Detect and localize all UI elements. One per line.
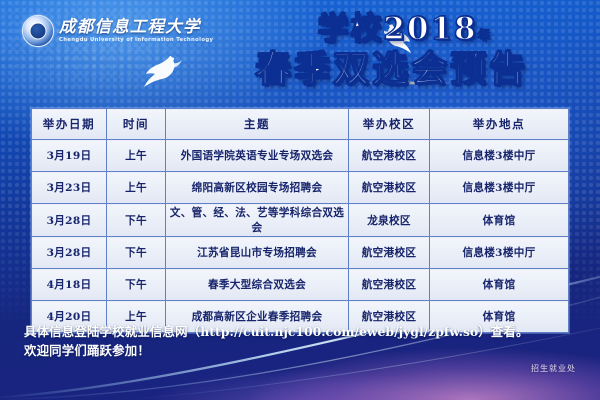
footer-prefix: 具体信息登陆学校就业信息网（: [24, 324, 200, 339]
university-name-block: 成都信息工程大学 Chengdu University of Informati…: [59, 18, 213, 44]
column-header-campus: 举办校区: [349, 109, 430, 140]
table-row: 3月28日 下午 文、管、经、法、艺等学科综合双选会 龙泉校区 体育馆: [32, 204, 569, 237]
cell-place: 信息楼3楼中厅: [430, 237, 569, 269]
title-year-suffix: 年: [478, 28, 490, 42]
cell-date: 3月28日: [32, 204, 107, 237]
schedule-table: 举办日期 时间 主题 举办校区 举办地点 3月19日 上午 外国语学院英语专业专…: [31, 108, 569, 333]
cell-time: 上午: [107, 140, 166, 172]
cell-date: 4月18日: [32, 269, 107, 301]
footer-suffix: ）查看。: [478, 324, 528, 339]
cell-time: 下午: [107, 269, 166, 301]
cell-date: 3月28日: [32, 237, 107, 269]
cell-topic: 绵阳高新区校园专场招聘会: [166, 172, 349, 204]
cell-date: 3月23日: [32, 172, 107, 204]
footer-line-2: 欢迎同学们踊跃参加！: [24, 341, 584, 360]
cell-topic: 文、管、经、法、艺等学科综合双选会: [166, 204, 349, 237]
cell-place: 体育馆: [430, 204, 569, 237]
employment-site-url[interactable]: http://cuit.njc100.com/eweb/jygl/zpfw.so: [200, 324, 478, 339]
table-header-row: 举办日期 时间 主题 举办校区 举办地点: [32, 109, 569, 140]
table-row: 4月18日 下午 春季大型综合双选会 航空港校区 体育馆: [32, 269, 569, 301]
cell-campus: 航空港校区: [349, 237, 430, 269]
column-header-time: 时间: [107, 109, 166, 140]
poster-canvas: 成都信息工程大学 Chengdu University of Informati…: [0, 0, 600, 400]
cell-topic: 春季大型综合双选会: [166, 269, 349, 301]
cell-topic: 江苏省昆山市专场招聘会: [166, 237, 349, 269]
cell-campus: 航空港校区: [349, 140, 430, 172]
title-line-2: 春季双选会预告: [199, 51, 584, 87]
cell-campus: 龙泉校区: [349, 204, 430, 237]
university-logo: 成都信息工程大学 Chengdu University of Informati…: [23, 16, 213, 46]
column-header-place: 举办地点: [430, 109, 569, 140]
title-line-1: 学校2018年: [211, 14, 596, 45]
cell-time: 上午: [107, 172, 166, 204]
university-emblem-icon: [23, 16, 53, 46]
cell-campus: 航空港校区: [349, 269, 430, 301]
cell-place: 信息楼3楼中厅: [430, 172, 569, 204]
poster-title: 学校2018年 春季双选会预告: [205, 14, 590, 87]
cell-place: 信息楼3楼中厅: [430, 140, 569, 172]
cell-topic: 外国语学院英语专业专场双选会: [166, 140, 349, 172]
table-row: 3月23日 上午 绵阳高新区校园专场招聘会 航空港校区 信息楼3楼中厅: [32, 172, 569, 204]
cell-time: 下午: [107, 204, 166, 237]
footer-line-1: 具体信息登陆学校就业信息网（http://cuit.njc100.com/ewe…: [24, 322, 584, 341]
cell-place: 体育馆: [430, 269, 569, 301]
cell-date: 3月19日: [32, 140, 107, 172]
column-header-topic: 主题: [166, 109, 349, 140]
cell-campus: 航空港校区: [349, 172, 430, 204]
office-watermark: 招生就业处: [531, 363, 576, 374]
university-name-cn: 成都信息工程大学: [59, 18, 213, 35]
cell-time: 下午: [107, 237, 166, 269]
table-row: 3月19日 上午 外国语学院英语专业专场双选会 航空港校区 信息楼3楼中厅: [32, 140, 569, 172]
table-row: 3月28日 下午 江苏省昆山市专场招聘会 航空港校区 信息楼3楼中厅: [32, 237, 569, 269]
dove-icon: [140, 52, 186, 92]
column-header-date: 举办日期: [32, 109, 107, 140]
university-name-en: Chengdu University of Information Techno…: [59, 37, 213, 43]
title-line-1-text: 学校2018: [317, 11, 477, 47]
footer-note: 具体信息登陆学校就业信息网（http://cuit.njc100.com/ewe…: [24, 322, 584, 360]
